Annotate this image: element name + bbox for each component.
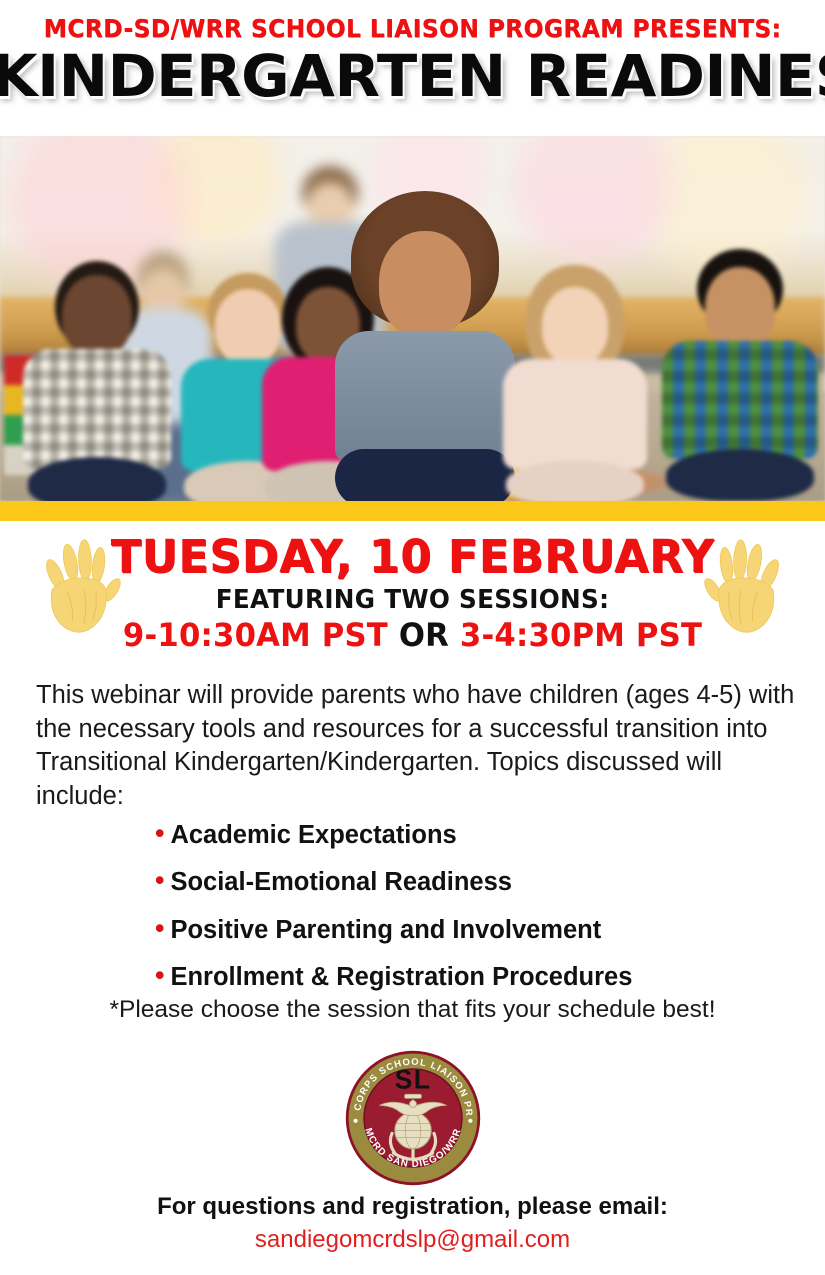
topic-label: Enrollment & Registration Procedures xyxy=(170,963,632,991)
list-item: •Academic Expectations xyxy=(0,818,825,850)
contact-label: For questions and registration, please e… xyxy=(0,1192,825,1222)
flyer-page: MCRD-SD/WRR School Liaison Program Prese… xyxy=(0,0,825,1275)
topic-label: Positive Parenting and Involvement xyxy=(170,916,601,944)
list-item: •Social-Emotional Readiness xyxy=(0,865,825,897)
topics-list: •Academic Expectations •Social-Emotional… xyxy=(0,818,825,1007)
header: MCRD-SD/WRR School Liaison Program Prese… xyxy=(0,0,825,107)
seal-monogram: SL xyxy=(394,1065,431,1095)
logo-container: MARINE CORPS SCHOOL LIAISON PROGRAM MCRD… xyxy=(0,1048,825,1193)
bullet-icon: • xyxy=(155,865,164,895)
bullet-icon: • xyxy=(155,818,164,848)
session-time-separator: OR xyxy=(399,616,449,654)
child-photo xyxy=(660,249,820,501)
topic-label: Social-Emotional Readiness xyxy=(170,868,512,896)
contact-email[interactable]: sandiegomcrdslp@gmail.com xyxy=(0,1225,825,1255)
presents-line: MCRD-SD/WRR School Liaison Program Prese… xyxy=(29,16,796,42)
classroom-photo xyxy=(0,136,825,501)
child-photo-center xyxy=(330,191,520,501)
session-times: 9-10:30AM PST OR 3-4:30PM PST xyxy=(17,616,809,654)
footer: For questions and registration, please e… xyxy=(0,1192,825,1255)
session-time-morning: 9-10:30AM PST xyxy=(123,616,388,654)
school-liaison-seal-icon: MARINE CORPS SCHOOL LIAISON PROGRAM MCRD… xyxy=(343,1048,483,1188)
list-item: •Positive Parenting and Involvement xyxy=(0,913,825,945)
event-details: Tuesday, 10 February Featuring Two Sessi… xyxy=(0,533,825,654)
session-note: *Please choose the session that fits you… xyxy=(0,996,825,1024)
bullet-icon: • xyxy=(155,960,164,990)
sessions-label: Featuring Two Sessions: xyxy=(21,585,805,615)
child-photo xyxy=(22,261,172,501)
bullet-icon: • xyxy=(155,913,164,943)
description-paragraph: This webinar will provide parents who ha… xyxy=(36,679,798,814)
divider-bar xyxy=(0,501,825,521)
list-item: •Enrollment & Registration Procedures xyxy=(0,960,825,992)
topic-label: Academic Expectations xyxy=(170,821,456,849)
session-time-afternoon: 3-4:30PM PST xyxy=(460,616,702,654)
page-title: Kindergarten Readiness xyxy=(0,46,825,107)
child-photo xyxy=(500,265,650,501)
event-date: Tuesday, 10 February xyxy=(4,533,821,582)
